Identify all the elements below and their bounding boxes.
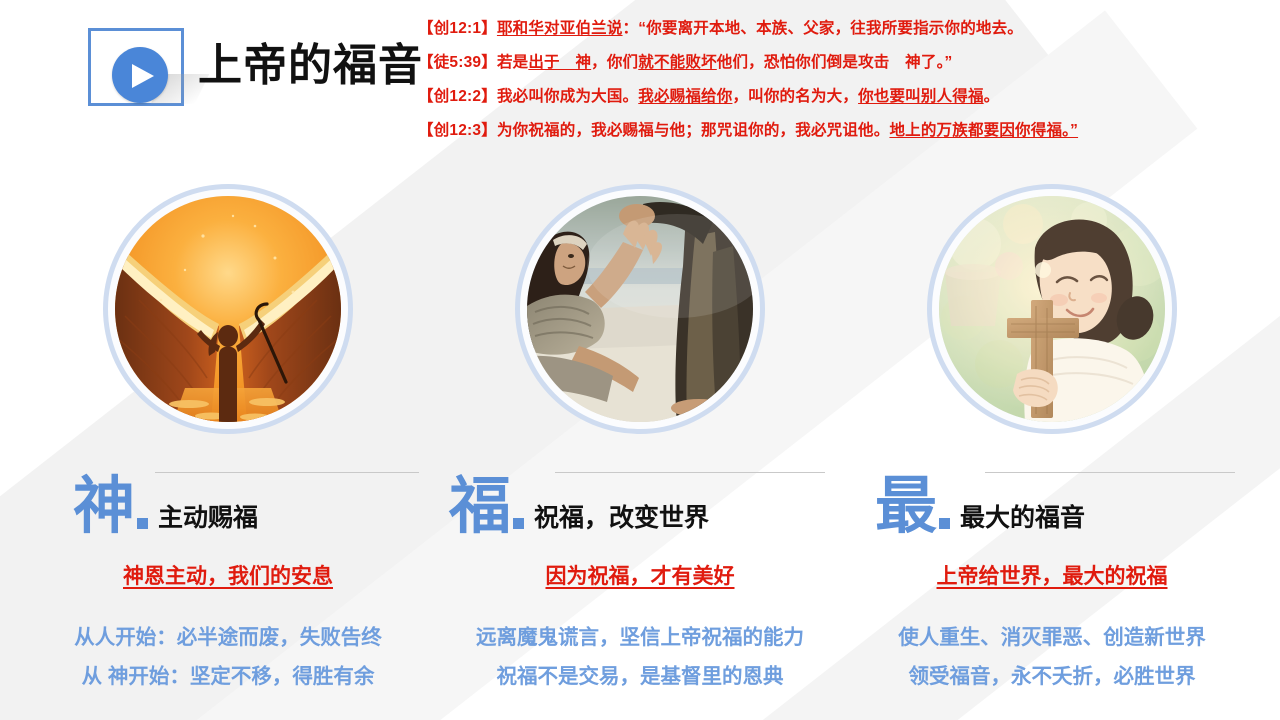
verse-line: 【创12:1】耶和华对亚伯兰说：“你要离开本地、本族、父家，往我所要指示你的地去…: [418, 12, 1273, 46]
verse-segment: 出于 神: [528, 54, 591, 71]
heading-divider: [985, 472, 1235, 473]
big-character: 福: [449, 478, 511, 535]
column-highlight-text: 上帝给世界，最大的祝福: [839, 560, 1265, 590]
verse-segment: 他们，恐怕你们倒是攻击 神了。”: [717, 54, 953, 71]
verse-reference: 【创12:3】: [418, 122, 497, 139]
column-body-text: 从人开始：必半途而废，失败告终 从 神开始：坚定不移，得胜有余: [15, 618, 441, 696]
column-highlight-text: 神恩主动，我们的安息: [15, 560, 441, 590]
slide-canvas: 上帝的福音 【创12:1】耶和华对亚伯兰说：“你要离开本地、本族、父家，往我所要…: [0, 0, 1280, 720]
verse-reference: 【创12:2】: [418, 88, 497, 105]
verse-reference: 【徒5:39】: [418, 54, 497, 71]
verse-reference: 【创12:1】: [418, 20, 497, 37]
verse-segment: ，叫你的名为大，: [732, 88, 858, 105]
verse-segment: ：“你要离开本地、本族、父家，往我所要指示你的地去。: [623, 20, 1023, 37]
child-holding-wooden-cross-photo: [939, 196, 1165, 422]
verse-line: 【徒5:39】若是出于 神，你们就不能败坏他们，恐怕你们倒是攻击 神了。”: [418, 46, 1273, 80]
play-button-icon: [112, 47, 168, 103]
woman-kneeling-before-jesus-photo: [527, 196, 753, 422]
heading-dot: [939, 518, 950, 529]
heading-dot: [513, 518, 524, 529]
body-line: 从 神开始：坚定不移，得胜有余: [15, 657, 441, 696]
verse-line: 【创12:2】我必叫你成为大国。我必赐福给你，叫你的名为大，你也要叫别人得福。: [418, 80, 1273, 114]
column-3: 最最大的福音 上帝给世界，最大的祝福 使人重生、消灭罪恶、创造新世界 领受福音，…: [839, 196, 1265, 696]
verse-segment: 就不能败坏: [638, 54, 717, 71]
column-body-text: 远离魔鬼谎言，坚信上帝祝福的能力 祝福不是交易，是基督里的恩典: [427, 618, 853, 696]
big-character: 神: [73, 478, 135, 535]
logo: [88, 28, 188, 110]
column-2: 福祝福，改变世界 因为祝福，才有美好 远离魔鬼谎言，坚信上帝祝福的能力 祝福不是…: [427, 196, 853, 696]
column-subheading: 最大的福音: [960, 506, 1085, 535]
heading-divider: [155, 472, 419, 473]
column-1: 神主动赐福 神恩主动，我们的安息 从人开始：必半途而废，失败告终 从 神开始：坚…: [15, 196, 441, 696]
body-line: 从人开始：必半途而废，失败告终: [15, 618, 441, 657]
column-heading-3: 最最大的福音: [839, 464, 1265, 534]
column-subheading: 主动赐福: [158, 506, 258, 535]
moses-parting-sea-illustration: [115, 196, 341, 422]
column-body-text: 使人重生、消灭罪恶、创造新世界 领受福音，永不夭折，必胜世界: [839, 618, 1265, 696]
verse-segment: 我必叫你成为大国。: [497, 88, 638, 105]
verse-segment: 我必赐福给你: [638, 88, 732, 105]
heading-dot: [137, 518, 148, 529]
verse-segment: ，你们: [591, 54, 638, 71]
column-heading-2: 福祝福，改变世界: [427, 464, 853, 534]
verse-segment: 为你祝福的，我必赐福与他；那咒诅你的，我必咒诅他。: [497, 122, 890, 139]
column-heading-1: 神主动赐福: [15, 464, 441, 534]
slide-header: 上帝的福音 【创12:1】耶和华对亚伯兰说：“你要离开本地、本族、父家，往我所要…: [0, 0, 1280, 160]
body-line: 远离魔鬼谎言，坚信上帝祝福的能力: [427, 618, 853, 657]
heading-divider: [555, 472, 825, 473]
column-subheading: 祝福，改变世界: [534, 506, 709, 535]
content-columns: 神主动赐福 神恩主动，我们的安息 从人开始：必半途而废，失败告终 从 神开始：坚…: [0, 196, 1280, 720]
verse-segment: 你也要叫别人得福: [858, 88, 984, 105]
verse-segment: 。: [984, 88, 1000, 105]
verse-segment: 若是: [497, 54, 528, 71]
body-line: 使人重生、消灭罪恶、创造新世界: [839, 618, 1265, 657]
verse-segment: 地上的万族都要因你得福。”: [889, 122, 1078, 139]
column-highlight-text: 因为祝福，才有美好: [427, 560, 853, 590]
page-title: 上帝的福音: [198, 44, 423, 88]
verse-line: 【创12:3】为你祝福的，我必赐福与他；那咒诅你的，我必咒诅他。地上的万族都要因…: [418, 114, 1273, 148]
big-character: 最: [875, 478, 937, 535]
verse-list: 【创12:1】耶和华对亚伯兰说：“你要离开本地、本族、父家，往我所要指示你的地去…: [418, 12, 1273, 148]
body-line: 领受福音，永不夭折，必胜世界: [839, 657, 1265, 696]
verse-segment: 耶和华对亚伯兰说: [497, 20, 623, 37]
body-line: 祝福不是交易，是基督里的恩典: [427, 657, 853, 696]
